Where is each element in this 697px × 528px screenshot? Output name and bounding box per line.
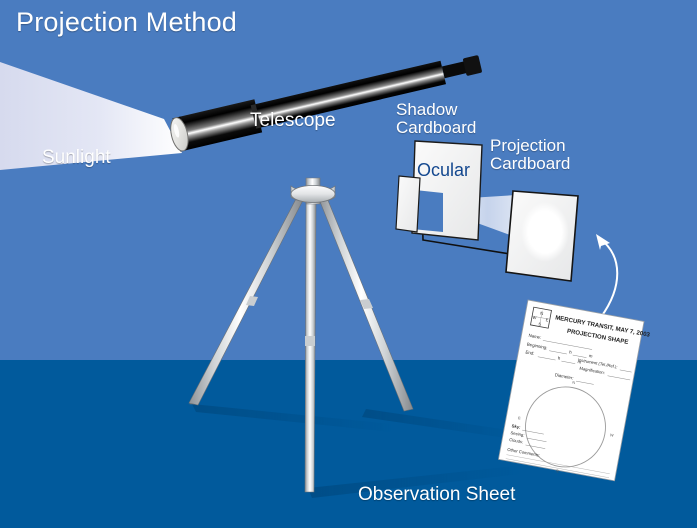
mount-hub-top [291, 186, 335, 203]
projection-cardboard [506, 191, 578, 281]
label-sunlight: Sunlight [42, 148, 111, 168]
projected-sun-disk [521, 202, 569, 262]
label-telescope: Telescope [250, 111, 336, 131]
page-title: Projection Method [16, 8, 237, 37]
shadow-cardboard-flap [396, 176, 420, 232]
scene-artwork: N S W E MERCURY TRANSIT, MAY 7, 2003 PRO… [0, 0, 697, 528]
sky-background [0, 0, 697, 360]
label-shadow-cardboard: Shadow Cardboard [396, 101, 476, 137]
leg-joint-center [305, 336, 315, 346]
tripod-leg-center [305, 202, 316, 492]
label-projection-cardboard: Projection Cardboard [490, 137, 570, 173]
label-ocular: Ocular [417, 161, 470, 180]
projection-method-diagram: N S W E MERCURY TRANSIT, MAY 7, 2003 PRO… [0, 0, 697, 528]
label-observation-sheet: Observation Sheet [358, 485, 515, 505]
